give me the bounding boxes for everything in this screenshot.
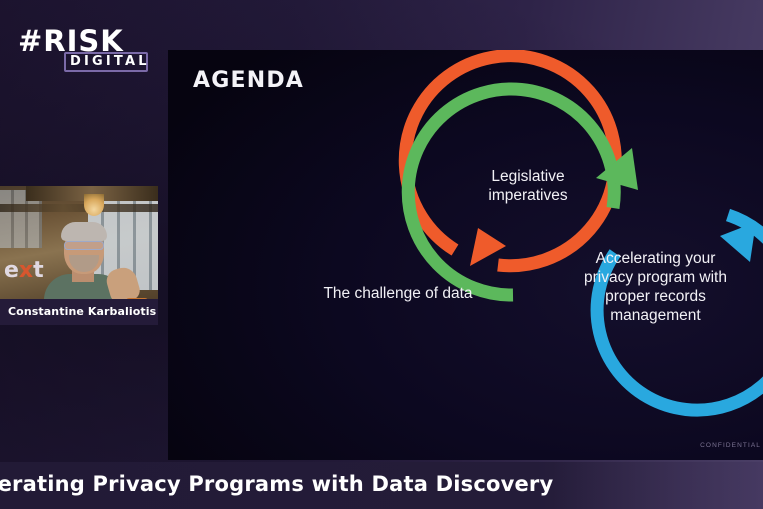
risk-digital-logo: #RISK DIGITAL [18, 26, 148, 74]
presenter-video-tile[interactable]: ext Constantine Karbaliotis [0, 186, 158, 325]
presentation-slide: AGENDA The challenge of data Legislative… [168, 50, 763, 460]
video-background-logo-accent: x [19, 258, 33, 283]
background-pendant-lamp [84, 194, 104, 216]
presenter-glasses [64, 241, 104, 250]
ring-accelerating [597, 215, 763, 410]
agenda-cycle-diagram [168, 50, 763, 460]
presenter-hair [61, 222, 107, 241]
background-ceiling-beam-secondary [0, 204, 158, 212]
session-bar-glow [553, 462, 763, 509]
session-title-bar: Accelerating Privacy Programs with Data … [0, 462, 763, 509]
presenter-name-label: Constantine Karbaliotis [8, 305, 156, 318]
slide-confidential-note: CONFIDENTIAL [700, 442, 761, 449]
webinar-player: #RISK DIGITAL AGENDA The challenge of da… [0, 0, 763, 509]
session-title: Accelerating Privacy Programs with Data … [0, 472, 553, 496]
ring-accelerating-arrowhead [720, 222, 756, 262]
video-background-logo: ext [4, 258, 44, 283]
logo-subtitle-text: DIGITAL [70, 54, 150, 70]
presenter-nameplate: Constantine Karbaliotis [0, 299, 158, 325]
